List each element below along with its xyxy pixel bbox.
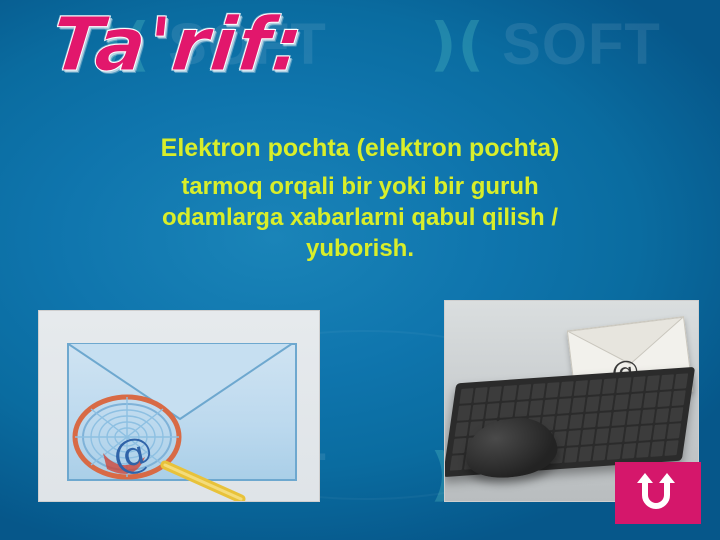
definition-line-3: odamlarga xabarlarni qabul qilish /: [60, 202, 660, 233]
net-racket-icon: [69, 393, 249, 502]
definition-line-4: yuborish.: [60, 233, 660, 264]
undo-arrow-icon: [635, 473, 681, 513]
definition-line-1: Elektron pochta (elektron pochta): [60, 132, 660, 165]
back-button[interactable]: [615, 462, 701, 524]
envelope-with-racket-photo: @: [38, 310, 320, 502]
watermark-logo-2: )( SOFT: [430, 10, 661, 78]
page-title: Ta'rif:: [47, 2, 308, 88]
definition-text: Elektron pochta (elektron pochta) tarmoq…: [60, 132, 660, 264]
definition-line-2: tarmoq orqali bir yoki bir guruh: [60, 171, 660, 202]
slide-canvas: )( SOFT )( SOFT )( SOFT )( SOFT Ta'rif: …: [0, 0, 720, 540]
